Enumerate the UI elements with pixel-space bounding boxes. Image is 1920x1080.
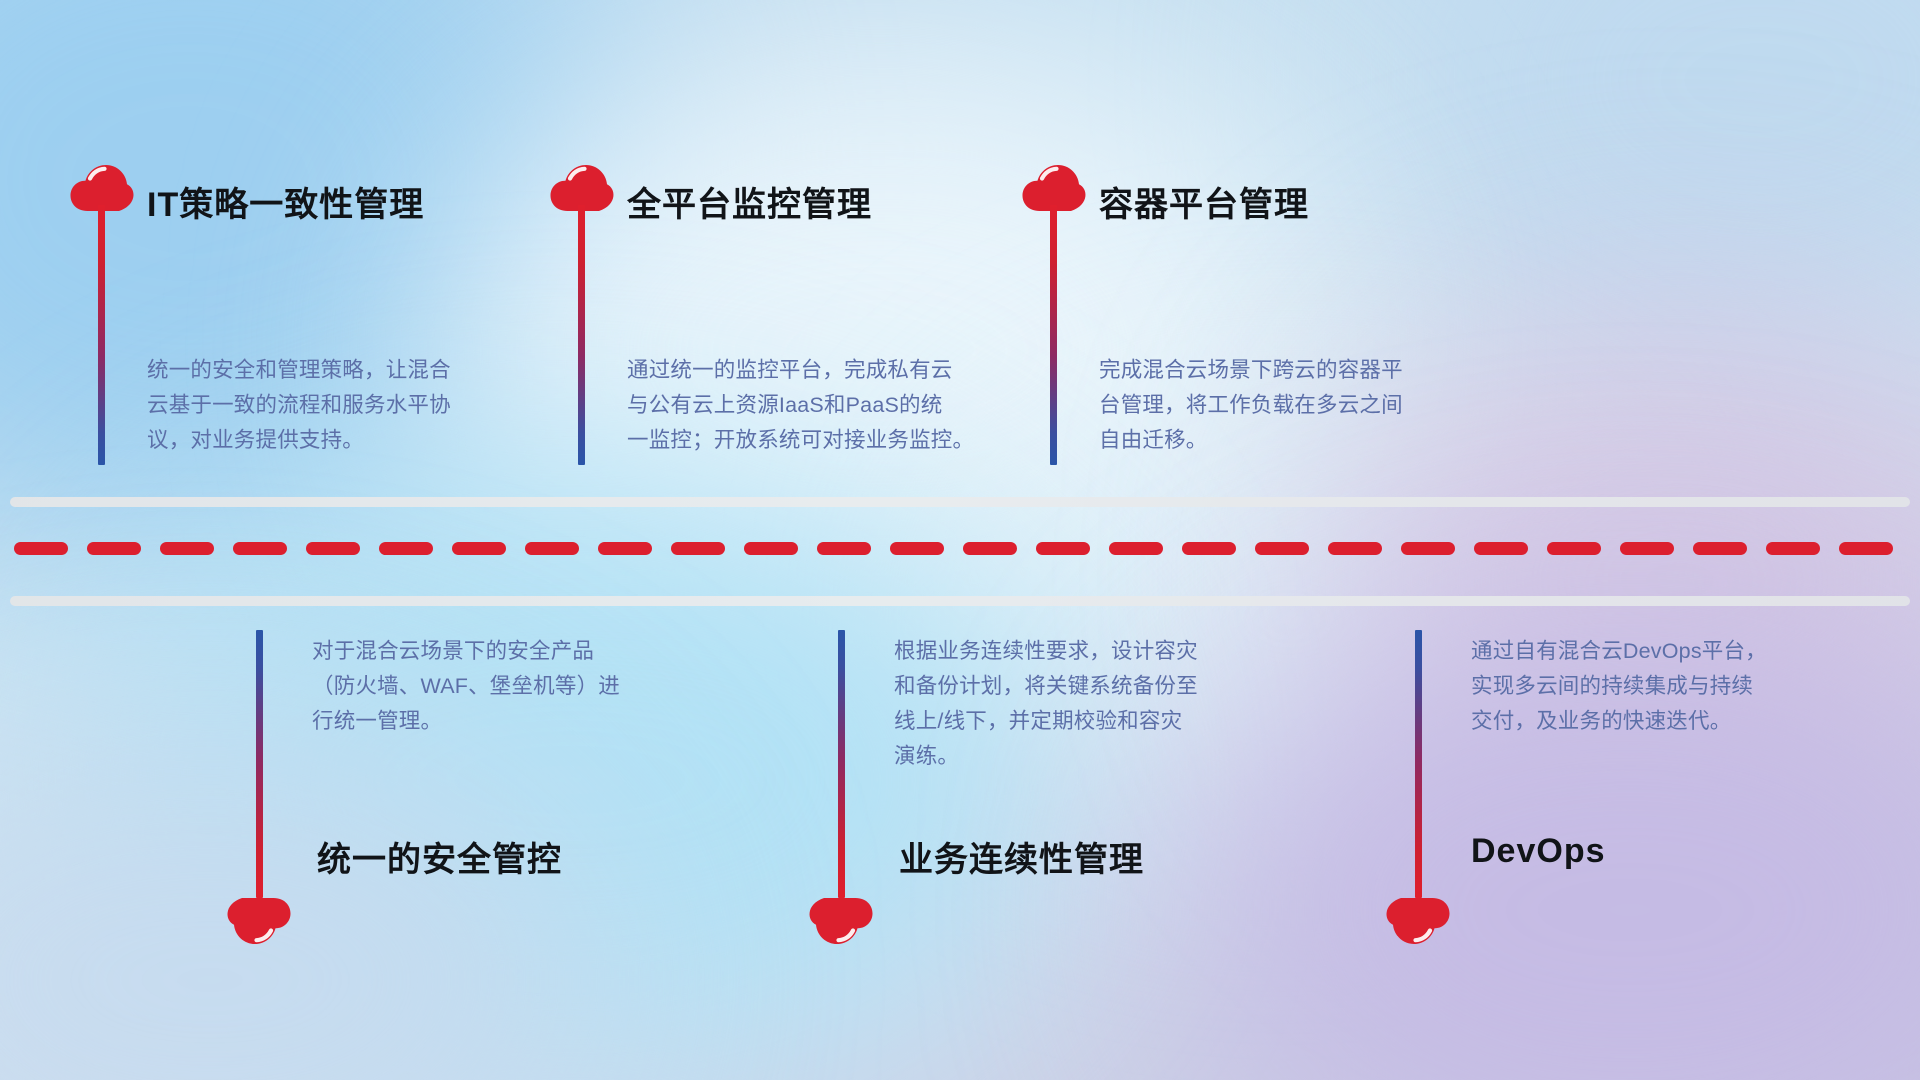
connector-bar [578, 205, 585, 465]
road-divider [0, 542, 1920, 555]
road-dash [890, 542, 944, 555]
body-line: 台管理，将工作负载在多云之间 [1099, 388, 1403, 423]
road-dash [1255, 542, 1309, 555]
road-dash [744, 542, 798, 555]
body-line: 与公有云上资源IaaS和PaaS的统 [627, 388, 974, 423]
body-line: 根据业务连续性要求，设计容灾 [894, 634, 1198, 669]
bottom-column-1-heading: 统一的安全管控 [317, 832, 562, 881]
bottom-column-1-body: 对于混合云场景下的安全产品 （防火墙、WAF、堡垒机等）进 行统一管理。 [312, 634, 620, 739]
body-line: 议，对业务提供支持。 [147, 423, 451, 458]
body-line: 演练。 [894, 739, 1198, 774]
road-dash [598, 542, 652, 555]
body-line: 云基于一致的流程和服务水平协 [147, 388, 451, 423]
road-dash [1182, 542, 1236, 555]
road-dash [817, 542, 871, 555]
road-dash [1328, 542, 1382, 555]
road-dash [963, 542, 1017, 555]
body-line: （防火墙、WAF、堡垒机等）进 [312, 669, 620, 704]
connector-bar [1050, 205, 1057, 465]
bottom-column-2-heading: 业务连续性管理 [899, 832, 1144, 881]
road-dash [1766, 542, 1820, 555]
body-line: 线上/线下，并定期校验和容灾 [894, 704, 1198, 739]
road-dash [1109, 542, 1163, 555]
cloud-icon [808, 897, 874, 947]
body-line: 一监控；开放系统可对接业务监控。 [627, 423, 974, 458]
road-dash [379, 542, 433, 555]
cloud-icon [226, 897, 292, 947]
road-dash [306, 542, 360, 555]
top-column-1-heading: IT策略一致性管理 [147, 177, 424, 226]
road-dash [1401, 542, 1455, 555]
road-dash [14, 542, 68, 555]
connector-bar [838, 630, 845, 898]
road-dash [1474, 542, 1528, 555]
road-line-top [10, 497, 1910, 507]
road-dash [1547, 542, 1601, 555]
road-dash [160, 542, 214, 555]
body-line: 自由迁移。 [1099, 423, 1403, 458]
body-line: 交付，及业务的快速迭代。 [1471, 704, 1767, 739]
body-line: 完成混合云场景下跨云的容器平 [1099, 353, 1403, 388]
top-column-2-body: 通过统一的监控平台，完成私有云 与公有云上资源IaaS和PaaS的统 一监控；开… [627, 353, 974, 458]
body-line: 和备份计划，将关键系统备份至 [894, 669, 1198, 704]
body-line: 行统一管理。 [312, 704, 620, 739]
bottom-column-3-body: 通过自有混合云DevOps平台， 实现多云间的持续集成与持续 交付，及业务的快速… [1471, 634, 1767, 739]
connector-bar [256, 630, 263, 898]
top-column-3-heading: 容器平台管理 [1099, 177, 1309, 226]
body-line: 统一的安全和管理策略，让混合 [147, 353, 451, 388]
road-dash [671, 542, 725, 555]
cloud-icon [1385, 897, 1451, 947]
top-column-1-body: 统一的安全和管理策略，让混合 云基于一致的流程和服务水平协 议，对业务提供支持。 [147, 353, 451, 458]
body-line: 通过自有混合云DevOps平台， [1471, 634, 1767, 669]
road-dash [1620, 542, 1674, 555]
road-dash [233, 542, 287, 555]
body-line: 实现多云间的持续集成与持续 [1471, 669, 1767, 704]
top-column-3-body: 完成混合云场景下跨云的容器平 台管理，将工作负载在多云之间 自由迁移。 [1099, 353, 1403, 458]
road-line-bottom [10, 596, 1910, 606]
road-dash [1693, 542, 1747, 555]
body-line: 通过统一的监控平台，完成私有云 [627, 353, 974, 388]
bottom-column-3-heading: DevOps [1471, 832, 1606, 871]
top-column-2-heading: 全平台监控管理 [627, 177, 872, 226]
road-dash [525, 542, 579, 555]
road-dash [1036, 542, 1090, 555]
infographic-canvas: IT策略一致性管理 统一的安全和管理策略，让混合 云基于一致的流程和服务水平协 … [0, 0, 1920, 1080]
road-dash [87, 542, 141, 555]
body-line: 对于混合云场景下的安全产品 [312, 634, 620, 669]
road-dash [452, 542, 506, 555]
road-dash [1839, 542, 1893, 555]
connector-bar [1415, 630, 1422, 898]
bottom-column-2-body: 根据业务连续性要求，设计容灾 和备份计划，将关键系统备份至 线上/线下，并定期校… [894, 634, 1198, 774]
connector-bar [98, 205, 105, 465]
